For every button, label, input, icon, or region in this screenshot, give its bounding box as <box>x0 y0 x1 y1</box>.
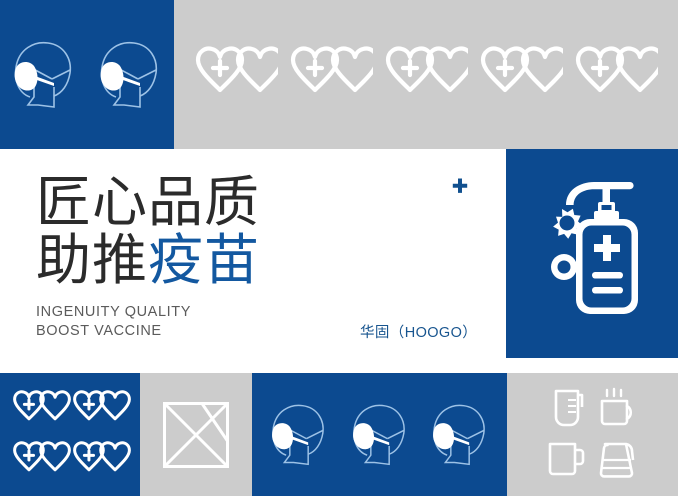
face-mask-icon <box>94 35 166 115</box>
panel-gutter <box>0 358 506 373</box>
double-heart-plus-icon <box>289 44 373 106</box>
poster-canvas: 匠心品质 助推疫苗 INGENUITY QUALITY BOOST VACCIN… <box>0 0 678 496</box>
bottom-masked-faces-panel <box>252 373 507 496</box>
steaming-mug-icon <box>595 387 641 433</box>
measuring-beaker-icon <box>547 387 587 433</box>
headline-line-2: 助推疫苗 <box>36 231 260 289</box>
image-placeholder-panel <box>140 373 252 496</box>
pitcher-icon <box>595 437 641 481</box>
headline-line-1: 匠心品质 <box>36 173 260 231</box>
sanitizer-panel <box>506 149 678 358</box>
placeholder-wrap <box>140 373 252 496</box>
face-mask-icon <box>347 397 413 473</box>
double-heart-plus-icon <box>72 387 132 431</box>
double-heart-plus-icon <box>72 438 132 482</box>
plus-symbol-icon <box>450 177 470 197</box>
double-heart-plus-icon <box>384 44 468 106</box>
heart-icon-row <box>174 0 678 149</box>
double-heart-plus-icon <box>194 44 278 106</box>
mask-icon-row <box>252 373 507 496</box>
subtitle-line-1: INGENUITY QUALITY <box>36 303 191 322</box>
double-heart-plus-icon <box>479 44 563 106</box>
bottom-hearts-panel <box>0 373 140 496</box>
double-heart-plus-icon <box>574 44 658 106</box>
mask-icon-row <box>0 0 174 149</box>
face-mask-icon <box>8 35 80 115</box>
drinkware-panel <box>507 373 678 496</box>
hand-sanitizer-bottle-icon <box>524 171 660 336</box>
top-hearts-panel <box>174 0 678 149</box>
headline-panel: 匠心品质 助推疫苗 INGENUITY QUALITY BOOST VACCIN… <box>0 149 506 358</box>
headline-line-2-dark: 助推 <box>36 229 148 291</box>
top-masked-faces-panel <box>0 0 174 149</box>
crossed-box-icon <box>162 401 230 469</box>
double-heart-plus-icon <box>12 438 72 482</box>
subtitle-line-2: BOOST VACCINE <box>36 322 191 341</box>
heart-icon-grid <box>0 373 140 496</box>
subtitle-block: INGENUITY QUALITY BOOST VACCINE <box>36 303 191 341</box>
drinkware-icon-grid <box>507 373 678 496</box>
plain-mug-icon <box>545 438 589 480</box>
brand-name: 华固（HOOGO） <box>360 321 477 342</box>
double-heart-plus-icon <box>12 387 72 431</box>
headline-line-2-accent: 疫苗 <box>148 229 260 291</box>
face-mask-icon <box>266 397 332 473</box>
face-mask-icon <box>427 397 493 473</box>
headline-block: 匠心品质 助推疫苗 <box>36 173 260 289</box>
